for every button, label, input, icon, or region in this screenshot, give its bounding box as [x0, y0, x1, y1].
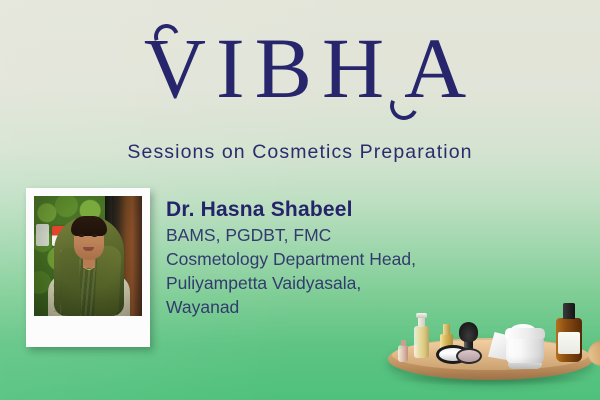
speaker-name: Dr. Hasna Shabeel	[166, 197, 466, 223]
title-letter-i: I	[216, 20, 255, 116]
cosmetics-tray-illustration	[378, 296, 600, 388]
speaker-portrait-photo	[34, 196, 142, 316]
poster-canvas: VIBHA Sessions on Cosmetics Preparation	[0, 0, 600, 400]
photo-vignette	[34, 196, 142, 316]
title-letter-a: A	[394, 22, 476, 114]
title-letter-h: H	[322, 20, 394, 116]
speaker-qualifications: BAMS, PGDBT, FMC	[166, 223, 466, 247]
white-cream-jar-icon	[506, 336, 544, 364]
amber-dropper-bottle-icon	[556, 318, 582, 362]
tall-perfume-bottle-icon	[414, 326, 429, 358]
page-title: VIBHA	[0, 22, 600, 114]
title-letter-b: B	[255, 20, 322, 116]
subtitle: Sessions on Cosmetics Preparation	[0, 140, 600, 164]
mini-bottle-icon	[398, 345, 408, 362]
open-compact-icon	[456, 348, 482, 364]
speaker-institution: Puliyampetta Vaidyasala,	[166, 271, 466, 295]
title-letter-v: V	[134, 22, 216, 114]
polaroid-caption-strip	[34, 319, 142, 341]
speaker-designation: Cosmetology Department Head,	[166, 247, 466, 271]
speaker-photo-frame	[26, 188, 150, 347]
